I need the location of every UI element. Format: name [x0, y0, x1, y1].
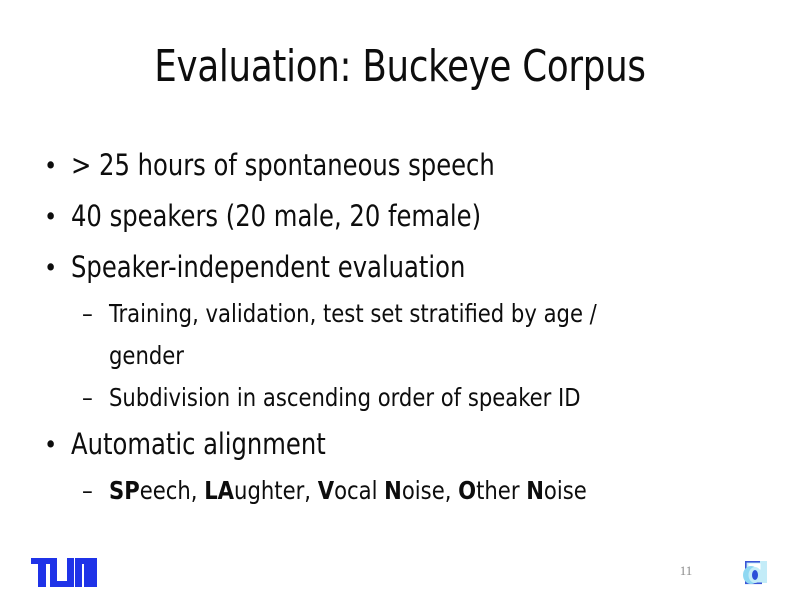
- bullet-marker-icon: •: [44, 191, 71, 242]
- dash-marker-icon: –: [82, 470, 109, 512]
- dash-marker-icon: –: [82, 377, 109, 419]
- slide-canvas: Evaluation: Buckeye Corpus • > 25 hours …: [0, 0, 800, 599]
- list-item: • 40 speakers (20 male, 20 female): [44, 191, 744, 242]
- bullet-marker-icon: •: [44, 242, 71, 293]
- list-item-label: 40 speakers (20 male, 20 female): [71, 191, 697, 242]
- list-item: • Speaker-independent evaluation: [44, 242, 744, 293]
- dash-marker-icon: –: [82, 293, 109, 335]
- list-item-label: Speaker-independent evaluation: [71, 242, 697, 293]
- institute-logo: [738, 557, 774, 593]
- bullet-marker-icon: •: [44, 140, 71, 191]
- list-item: • > 25 hours of spontaneous speech: [44, 140, 744, 191]
- bullet-list: • > 25 hours of spontaneous speech • 40 …: [44, 140, 744, 512]
- list-item-label: Automatic alignment: [71, 419, 697, 470]
- list-item: • Automatic alignment: [44, 419, 744, 470]
- sub-list-item-label: Training, validation, test set stratifie…: [109, 293, 673, 377]
- bullet-marker-icon: •: [44, 419, 71, 470]
- list-item-label: > 25 hours of spontaneous speech: [71, 140, 697, 191]
- sub-list-item-label: SPeech, LAughter, Vocal Noise, Other Noi…: [109, 470, 673, 512]
- page-number: 11: [666, 563, 706, 579]
- tum-logo: [31, 558, 97, 587]
- page-title: Evaluation: Buckeye Corpus: [40, 40, 760, 94]
- sub-list-item: – Training, validation, test set stratif…: [82, 293, 744, 377]
- sub-list-item-label: Subdivision in ascending order of speake…: [109, 377, 673, 419]
- sub-list-item: – SPeech, LAughter, Vocal Noise, Other N…: [82, 470, 744, 512]
- sub-list-item: – Subdivision in ascending order of spea…: [82, 377, 744, 419]
